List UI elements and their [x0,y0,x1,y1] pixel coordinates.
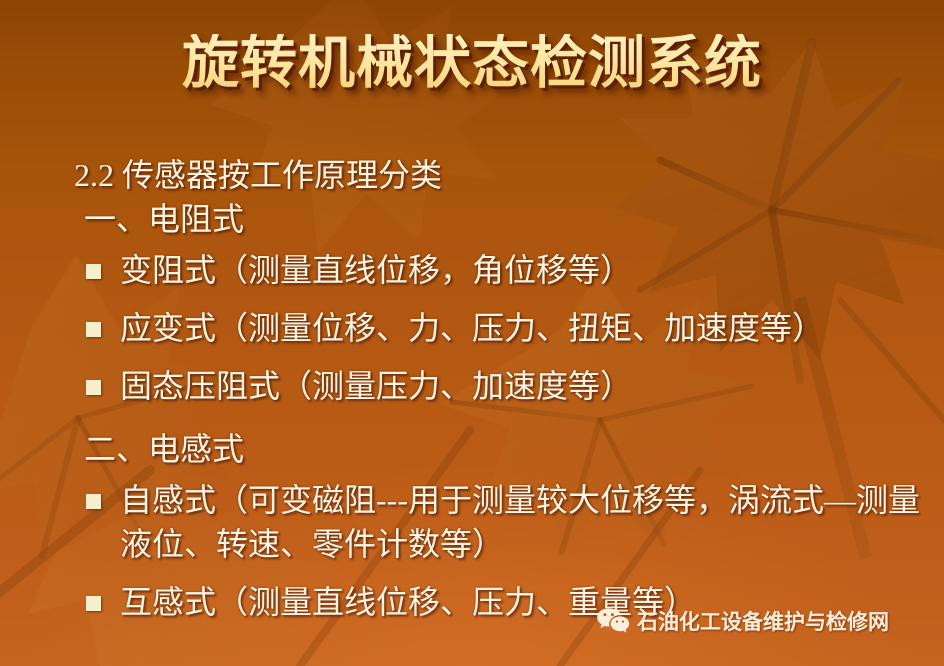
group-one-heading: 一、电阻式 [0,200,944,238]
list-item-label: 变阻式（测量直线位移，角位移等） [120,248,920,292]
list-item-label: 固态压阻式（测量压力、加速度等） [120,364,920,408]
square-bullet-icon [86,596,101,611]
list-item: 固态压阻式（测量压力、加速度等） [0,364,944,408]
square-bullet-icon [86,380,101,395]
square-bullet-icon [86,322,101,337]
watermark-label: 石油化工设备维护与检修网 [637,606,889,636]
group-two-heading: 二、电感式 [0,430,944,468]
square-bullet-icon [86,264,101,279]
square-bullet-icon [86,494,101,509]
spacer [0,422,944,430]
watermark: 石油化工设备维护与检修网 [596,606,889,636]
list-item: 应变式（测量位移、力、压力、扭矩、加速度等） [0,306,944,350]
page-title: 旋转机械状态检测系统 [182,34,762,94]
list-item: 自感式（可变磁阻---用于测量较大位移等，涡流式—测量液位、转速、零件计数等） [0,478,944,566]
slide-body: 2.2 传感器按工作原理分类 一、电阻式 变阻式（测量直线位移，角位移等） 应变… [0,156,944,638]
slide-canvas: 旋转机械状态检测系统 2.2 传感器按工作原理分类 一、电阻式 变阻式（测量直线… [0,0,944,666]
wechat-icon [596,607,630,635]
section-heading: 2.2 传感器按工作原理分类 [0,156,944,194]
slide-title-container: 旋转机械状态检测系统 [0,34,944,94]
list-item-label: 应变式（测量位移、力、压力、扭矩、加速度等） [120,306,920,350]
list-item-label: 自感式（可变磁阻---用于测量较大位移等，涡流式—测量液位、转速、零件计数等） [120,478,920,566]
list-item: 变阻式（测量直线位移，角位移等） [0,248,944,292]
